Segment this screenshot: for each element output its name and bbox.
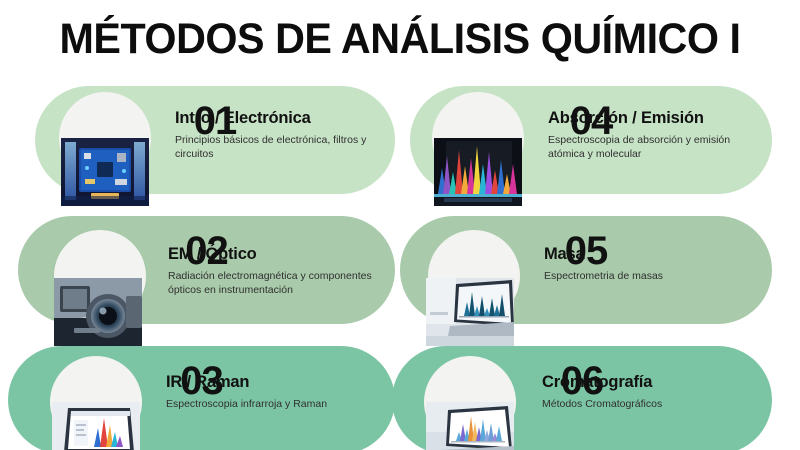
card-description: Métodos Cromatográficos — [542, 398, 662, 412]
card-text-block: Cromatografía Métodos Cromatográficos — [542, 372, 662, 412]
page-title: MÉTODOS DE ANÁLISIS QUÍMICO I — [16, 14, 784, 64]
card-thumbnail-chromatogram-icon — [426, 402, 514, 450]
method-card-03[interactable]: 03 IR / Raman Espectroscopia infrarroja … — [8, 346, 395, 450]
card-thumbnail-optical-lens-icon — [54, 278, 142, 346]
card-title: Cromatografía — [542, 372, 662, 392]
card-description: Espectrometria de masas — [544, 270, 663, 284]
card-thumbnail-spectral-peaks-icon — [434, 138, 522, 206]
card-title: Masa — [544, 244, 663, 264]
method-card-04[interactable]: 04 Absorción / Emisión Espectroscopia de… — [410, 86, 772, 194]
method-card-06[interactable]: 06 Cromatografía Métodos Cromatográficos — [392, 346, 772, 450]
method-card-01[interactable]: 01 Intr — [35, 86, 395, 194]
method-card-05[interactable]: 05 Masa Espectrometria de masas — [400, 216, 772, 324]
card-description: Espectroscopia de absorción y emisión at… — [548, 134, 763, 161]
card-text-block: Intro / Electrónica Principios básicos d… — [175, 108, 390, 161]
method-card-02[interactable]: 02 EM / Óptico Radiación electromagnétic… — [18, 216, 395, 324]
card-title: Intro / Electrónica — [175, 108, 390, 128]
card-description: Espectroscopia infrarroja y Raman — [166, 398, 327, 412]
card-thumbnail-mass-spectrum-icon — [426, 278, 514, 346]
card-text-block: EM / Óptico Radiación electromagnética y… — [168, 244, 383, 297]
card-thumbnail-circuit-board-icon — [61, 138, 149, 206]
card-thumbnail-laptop-spectrum-icon — [52, 402, 140, 450]
card-title: Absorción / Emisión — [548, 108, 763, 128]
card-title: IR / Raman — [166, 372, 327, 392]
card-text-block: Masa Espectrometria de masas — [544, 244, 663, 284]
card-text-block: Absorción / Emisión Espectroscopia de ab… — [548, 108, 763, 161]
card-title: EM / Óptico — [168, 244, 383, 264]
card-description: Radiación electromagnética y componentes… — [168, 270, 383, 297]
card-description: Principios básicos de electrónica, filtr… — [175, 134, 390, 161]
card-text-block: IR / Raman Espectroscopia infrarroja y R… — [166, 372, 327, 412]
